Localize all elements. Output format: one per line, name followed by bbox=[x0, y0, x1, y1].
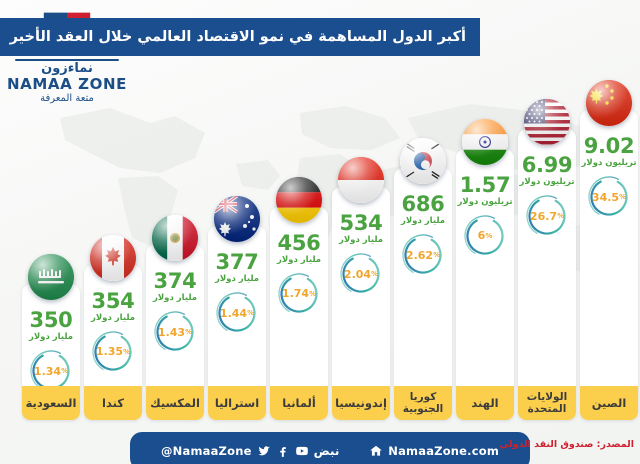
south-korea-flag bbox=[400, 138, 446, 184]
home-icon bbox=[369, 444, 383, 458]
country-label: كوريا الجنوبية bbox=[394, 386, 452, 420]
bar-unit: مليار دولار bbox=[22, 332, 80, 342]
indonesia-flag bbox=[338, 157, 384, 203]
youtube-icon bbox=[295, 444, 309, 458]
social-handle: @NamaaZone bbox=[161, 444, 252, 458]
mexico-flag bbox=[152, 215, 198, 261]
footer-bar: NamaaZone.com @NamaaZone نبض bbox=[130, 432, 530, 464]
bar-value: 9.02 bbox=[580, 136, 638, 157]
bar-unit: تريليون دولار bbox=[580, 158, 638, 168]
share-value: 2.04% bbox=[338, 251, 384, 297]
bar-value: 1.57 bbox=[456, 175, 514, 196]
country-label: كندا bbox=[84, 386, 142, 420]
india-flag bbox=[462, 119, 508, 165]
share-value: 2.62% bbox=[400, 232, 446, 278]
page-title: أكبر الدول المساهمة في نمو الاقتصاد العا… bbox=[0, 18, 480, 56]
bar-value: 350 bbox=[22, 310, 80, 331]
facebook-icon bbox=[276, 444, 290, 458]
bar-unit: تريليون دولار bbox=[518, 177, 576, 187]
share-ring: 1.74% bbox=[276, 271, 322, 317]
bar-unit: تريليون دولار bbox=[456, 197, 514, 207]
source-label: المصدر: صندوق النقد الدولي bbox=[499, 439, 634, 450]
footer: NamaaZone.com @NamaaZone نبض المصدر: صند… bbox=[0, 420, 640, 464]
bar-canada: 354مليار دولار1.35%كندا bbox=[84, 265, 142, 420]
bar-china: 9.02تريليون دولار34.5%الصين bbox=[580, 110, 638, 420]
share-value: 1.74% bbox=[276, 271, 322, 317]
header: نماءزون NAMAA ZONE متعة المعرفة أكبر الد… bbox=[0, 0, 640, 92]
bar-unit: مليار دولار bbox=[332, 235, 390, 245]
country-label: السعودية bbox=[22, 386, 80, 420]
bar-value: 456 bbox=[270, 233, 328, 254]
bar-unit: مليار دولار bbox=[146, 293, 204, 303]
share-ring: 2.04% bbox=[338, 251, 384, 297]
country-label: استراليا bbox=[208, 386, 266, 420]
bar-indonesia: 534مليار دولار2.04%إندونيسيا bbox=[332, 187, 390, 420]
bar-value: 534 bbox=[332, 213, 390, 234]
bar-saudi-arabia: 350مليار دولار1.34%السعودية bbox=[22, 284, 80, 420]
bar-unit: مليار دولار bbox=[84, 313, 142, 323]
infographic-canvas: نماءزون NAMAA ZONE متعة المعرفة أكبر الد… bbox=[0, 0, 640, 464]
share-value: 1.44% bbox=[214, 290, 260, 336]
country-label: المكسيك bbox=[146, 386, 204, 420]
share-ring: 6% bbox=[462, 213, 508, 259]
share-ring: 1.43% bbox=[152, 309, 198, 355]
bar-value: 377 bbox=[208, 252, 266, 273]
logo-arabic-name: نماءزون bbox=[4, 62, 130, 76]
bar-germany: 456مليار دولار1.74%ألمانيا bbox=[270, 207, 328, 420]
australia-flag bbox=[214, 196, 260, 242]
share-value: 26.7% bbox=[524, 193, 570, 239]
twitter-icon bbox=[257, 444, 271, 458]
website-group[interactable]: NamaaZone.com bbox=[369, 444, 499, 458]
share-value: 1.35% bbox=[90, 329, 136, 375]
share-ring: 1.35% bbox=[90, 329, 136, 375]
share-value: 6% bbox=[462, 213, 508, 259]
bar-united-states: 6.99تريليون دولار26.7%الولايات المتحدة bbox=[518, 129, 576, 420]
country-label: الصين bbox=[580, 386, 638, 420]
country-label: إندونيسيا bbox=[332, 386, 390, 420]
share-value: 34.5% bbox=[586, 174, 632, 220]
share-ring: 1.44% bbox=[214, 290, 260, 336]
bar-chart: 350مليار دولار1.34%السعودية354مليار دولا… bbox=[0, 84, 640, 420]
saudi-arabia-flag bbox=[28, 254, 74, 300]
country-label: الولايات المتحدة bbox=[518, 386, 576, 420]
bar-value: 686 bbox=[394, 194, 452, 215]
social-group[interactable]: @NamaaZone نبض bbox=[161, 444, 339, 458]
bar-unit: مليار دولار bbox=[270, 255, 328, 265]
bar-south-korea: 686مليار دولار2.62%كوريا الجنوبية bbox=[394, 168, 452, 420]
bar-value: 374 bbox=[146, 271, 204, 292]
bar-india: 1.57تريليون دولار6%الهند bbox=[456, 149, 514, 420]
bar-value: 354 bbox=[84, 291, 142, 312]
share-ring: 26.7% bbox=[524, 193, 570, 239]
country-label: ألمانيا bbox=[270, 386, 328, 420]
bar-value: 6.99 bbox=[518, 155, 576, 176]
share-ring: 34.5% bbox=[586, 174, 632, 220]
bar-unit: مليار دولار bbox=[208, 274, 266, 284]
germany-flag bbox=[276, 177, 322, 223]
country-label: الهند bbox=[456, 386, 514, 420]
canada-flag bbox=[90, 235, 136, 281]
bar-unit: مليار دولار bbox=[394, 216, 452, 226]
united-states-flag bbox=[524, 99, 570, 145]
share-ring: 2.62% bbox=[400, 232, 446, 278]
bar-australia: 377مليار دولار1.44%استراليا bbox=[208, 226, 266, 420]
nabd-label: نبض bbox=[314, 444, 340, 458]
bar-mexico: 374مليار دولار1.43%المكسيك bbox=[146, 245, 204, 420]
china-flag bbox=[586, 80, 632, 126]
website-label: NamaaZone.com bbox=[388, 444, 499, 458]
share-value: 1.43% bbox=[152, 309, 198, 355]
title-container: أكبر الدول المساهمة في نمو الاقتصاد العا… bbox=[0, 18, 480, 56]
